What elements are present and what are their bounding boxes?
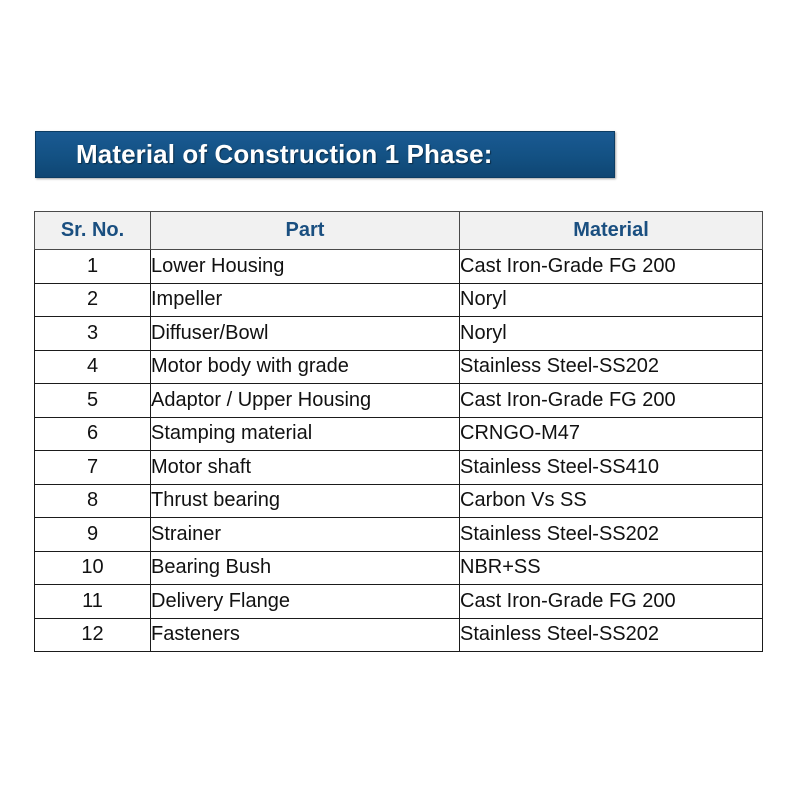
table-header-row: Sr. No. Part Material: [35, 212, 763, 250]
cell-sr-no: 8: [35, 484, 151, 518]
table-body: 1 Lower Housing Cast Iron-Grade FG 200 2…: [35, 250, 763, 652]
table-row: 1 Lower Housing Cast Iron-Grade FG 200: [35, 250, 763, 284]
cell-material: Cast Iron-Grade FG 200: [460, 384, 763, 418]
cell-part: Adaptor / Upper Housing: [151, 384, 460, 418]
cell-sr-no: 3: [35, 317, 151, 351]
cell-sr-no: 9: [35, 518, 151, 552]
cell-part: Diffuser/Bowl: [151, 317, 460, 351]
cell-part: Fasteners: [151, 618, 460, 652]
table-row: 2 Impeller Noryl: [35, 283, 763, 317]
cell-sr-no: 5: [35, 384, 151, 418]
cell-material: Noryl: [460, 283, 763, 317]
cell-material: Noryl: [460, 317, 763, 351]
column-header-part: Part: [151, 212, 460, 250]
column-header-material: Material: [460, 212, 763, 250]
cell-part: Motor body with grade: [151, 350, 460, 384]
cell-sr-no: 4: [35, 350, 151, 384]
table-row: 10 Bearing Bush NBR+SS: [35, 551, 763, 585]
cell-part: Stamping material: [151, 417, 460, 451]
column-header-sr-no: Sr. No.: [35, 212, 151, 250]
cell-part: Lower Housing: [151, 250, 460, 284]
cell-material: Carbon Vs SS: [460, 484, 763, 518]
table-row: 12 Fasteners Stainless Steel-SS202: [35, 618, 763, 652]
cell-sr-no: 7: [35, 451, 151, 485]
cell-material: Stainless Steel-SS202: [460, 350, 763, 384]
cell-part: Bearing Bush: [151, 551, 460, 585]
section-title: Material of Construction 1 Phase:: [36, 139, 492, 170]
cell-sr-no: 2: [35, 283, 151, 317]
table-row: 4 Motor body with grade Stainless Steel-…: [35, 350, 763, 384]
cell-material: Stainless Steel-SS410: [460, 451, 763, 485]
cell-material: Cast Iron-Grade FG 200: [460, 585, 763, 619]
table-row: 9 Strainer Stainless Steel-SS202: [35, 518, 763, 552]
material-of-construction-table: Sr. No. Part Material 1 Lower Housing Ca…: [34, 211, 763, 652]
cell-sr-no: 1: [35, 250, 151, 284]
table-row: 5 Adaptor / Upper Housing Cast Iron-Grad…: [35, 384, 763, 418]
cell-material: Stainless Steel-SS202: [460, 618, 763, 652]
table-row: 8 Thrust bearing Carbon Vs SS: [35, 484, 763, 518]
table-row: 3 Diffuser/Bowl Noryl: [35, 317, 763, 351]
cell-part: Strainer: [151, 518, 460, 552]
cell-part: Motor shaft: [151, 451, 460, 485]
cell-sr-no: 6: [35, 417, 151, 451]
cell-sr-no: 12: [35, 618, 151, 652]
cell-material: Stainless Steel-SS202: [460, 518, 763, 552]
cell-sr-no: 11: [35, 585, 151, 619]
cell-part: Delivery Flange: [151, 585, 460, 619]
cell-part: Thrust bearing: [151, 484, 460, 518]
table-row: 6 Stamping material CRNGO-M47: [35, 417, 763, 451]
cell-material: Cast Iron-Grade FG 200: [460, 250, 763, 284]
table-row: 7 Motor shaft Stainless Steel-SS410: [35, 451, 763, 485]
cell-material: CRNGO-M47: [460, 417, 763, 451]
cell-part: Impeller: [151, 283, 460, 317]
table-row: 11 Delivery Flange Cast Iron-Grade FG 20…: [35, 585, 763, 619]
section-banner: Material of Construction 1 Phase:: [35, 131, 615, 178]
cell-sr-no: 10: [35, 551, 151, 585]
cell-material: NBR+SS: [460, 551, 763, 585]
table-header: Sr. No. Part Material: [35, 212, 763, 250]
document-page: Material of Construction 1 Phase: Sr. No…: [0, 0, 800, 800]
